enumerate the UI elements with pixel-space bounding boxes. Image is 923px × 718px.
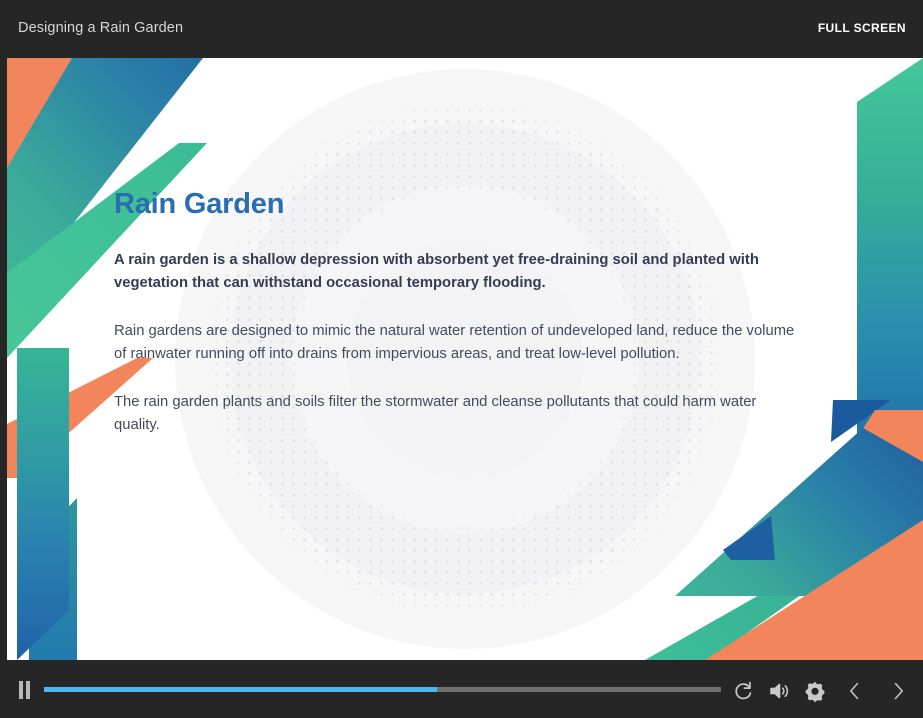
slide-paragraph-2: Rain gardens are designed to mimic the n… [114, 320, 806, 365]
fullscreen-button[interactable]: FULL SCREEN [818, 21, 906, 35]
decoration-bottom-right-orange-corner [623, 450, 923, 660]
slide-paragraph-3: The rain garden plants and soils filter … [114, 391, 806, 436]
progress-scrubber[interactable] [44, 687, 721, 692]
decoration-right-gradient-band [847, 58, 923, 488]
volume-icon[interactable] [767, 679, 791, 703]
replay-icon[interactable] [731, 679, 755, 703]
slide-paragraph-lead: A rain garden is a shallow depression wi… [114, 249, 806, 294]
chevron-right-icon[interactable] [886, 679, 910, 703]
course-player: Designing a Rain Garden FULL SCREEN Rain… [0, 0, 923, 718]
slide-heading: Rain Garden [114, 188, 814, 221]
slide-stage: Rain Garden A rain garden is a shallow d… [7, 58, 923, 660]
course-header: Designing a Rain Garden FULL SCREEN [0, 0, 923, 58]
slide-content: Rain Garden A rain garden is a shallow d… [114, 188, 814, 462]
chevron-left-icon[interactable] [843, 679, 867, 703]
pause-icon[interactable] [15, 681, 33, 699]
gear-icon[interactable] [803, 679, 827, 703]
progress-fill [44, 687, 437, 692]
course-title: Designing a Rain Garden [18, 20, 183, 36]
pause-bar-right [26, 681, 30, 699]
decoration-bottom-right-teal-stripe [623, 460, 923, 660]
decoration-left-gradient-band [7, 348, 69, 660]
pause-bar-left [19, 681, 23, 699]
